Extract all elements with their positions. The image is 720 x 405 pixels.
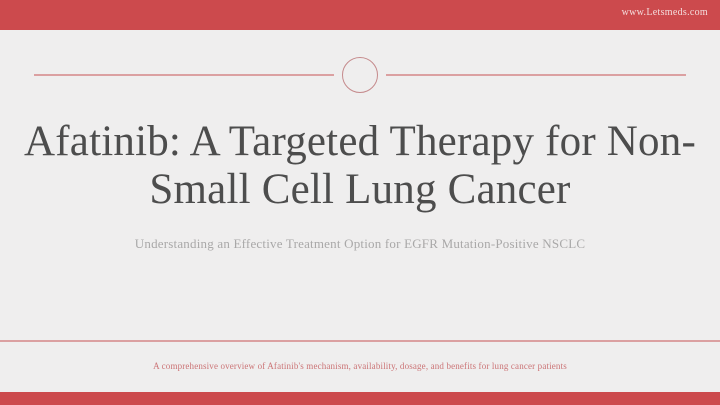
footer-rule xyxy=(0,340,720,342)
title-block: Afatinib: A Targeted Therapy for Non-Sma… xyxy=(0,118,720,253)
top-accent-bar: www.Letsmeds.com xyxy=(0,0,720,30)
page-title: Afatinib: A Targeted Therapy for Non-Sma… xyxy=(0,118,720,214)
footer-caption: A comprehensive overview of Afatinib's m… xyxy=(0,361,720,372)
title-slide: www.Letsmeds.com Afatinib: A Targeted Th… xyxy=(0,0,720,405)
site-url-label: www.Letsmeds.com xyxy=(622,7,708,18)
divider-rule-right xyxy=(386,74,686,76)
decorative-divider xyxy=(34,74,686,76)
page-subtitle: Understanding an Effective Treatment Opt… xyxy=(0,236,720,253)
bottom-accent-bar xyxy=(0,392,720,405)
divider-rule-left xyxy=(34,74,334,76)
circle-ornament-icon xyxy=(342,57,378,93)
